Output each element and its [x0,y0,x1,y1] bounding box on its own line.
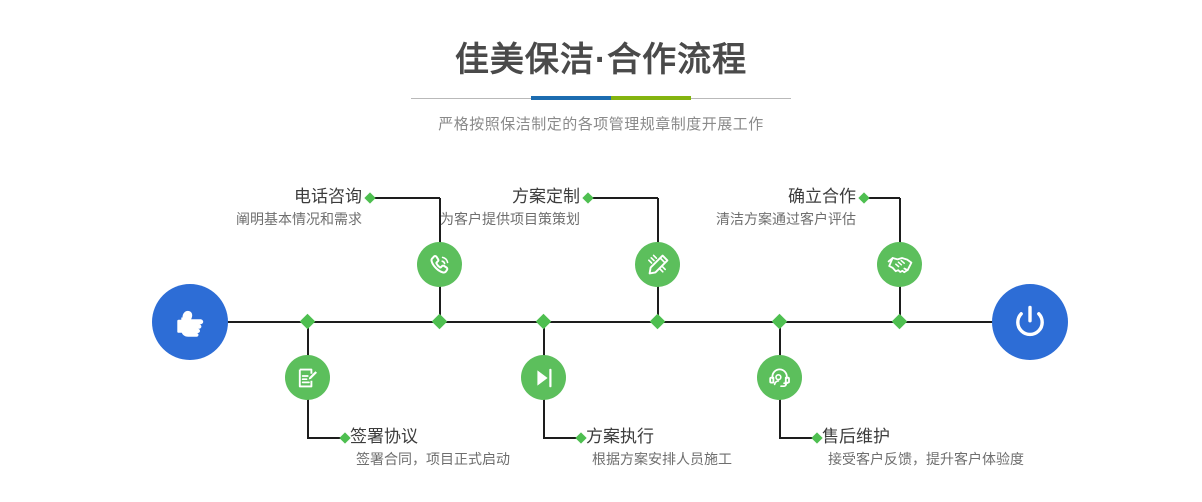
handshake-icon [886,251,914,279]
step-2-icon-badge[interactable] [285,355,330,400]
step-2-label: 签署协议 签署合同，项目正式启动 [350,426,610,469]
pencil-ruler-icon [645,252,671,278]
timeline-end-node[interactable] [992,284,1068,360]
step-5-label-marker [858,192,869,203]
step-2-axis-marker [300,314,316,330]
step-3-desc: 为客户提供项目策策划 [340,209,580,229]
step-5-desc: 清洁方案通过客户评估 [616,209,856,229]
step-6-title: 售后维护 [822,426,1122,447]
step-6-icon-badge[interactable] [757,355,802,400]
step-1-icon-badge[interactable] [417,242,462,287]
process-timeline: 电话咨询 阐明基本情况和需求 签署协议 签署合同， [0,0,1202,502]
step-4-axis-marker [536,314,552,330]
step-5-label: 确立合作 清洁方案通过客户评估 [616,186,856,229]
play-skip-icon [531,365,557,391]
step-4-icon-badge[interactable] [521,355,566,400]
flow-diagram-page: 佳美保洁·合作流程 严格按照保洁制定的各项管理规章制度开展工作 [0,0,1202,502]
phone-call-icon [427,252,453,278]
step-2-label-marker [339,432,350,443]
step-3-label-marker [582,192,593,203]
document-edit-icon [295,365,321,391]
step-5-connector-horizontal [866,197,900,199]
step-6-desc: 接受客户反馈，提升客户体验度 [822,449,1122,469]
step-6-connector-horizontal [779,437,815,439]
step-4-desc: 根据方案安排人员施工 [586,449,846,469]
step-5-axis-marker [892,314,908,330]
step-1-axis-marker [432,314,448,330]
step-2-connector-horizontal [307,437,343,439]
timeline-start-node[interactable] [152,284,228,360]
step-6-axis-marker [772,314,788,330]
step-4-connector-horizontal [543,437,579,439]
power-icon [1007,299,1053,345]
step-5-icon-badge[interactable] [877,242,922,287]
step-5-title: 确立合作 [616,186,856,207]
step-1-title: 电话咨询 [120,186,362,207]
step-4-label: 方案执行 根据方案安排人员施工 [586,426,846,469]
headset-support-icon [767,365,793,391]
step-3-title: 方案定制 [340,186,580,207]
step-1-label: 电话咨询 阐明基本情况和需求 [120,186,362,229]
step-3-label: 方案定制 为客户提供项目策策划 [340,186,580,229]
step-6-label: 售后维护 接受客户反馈，提升客户体验度 [822,426,1122,469]
step-2-desc: 签署合同，项目正式启动 [350,449,610,469]
step-1-desc: 阐明基本情况和需求 [120,209,362,229]
step-3-icon-badge[interactable] [635,242,680,287]
step-3-axis-marker [650,314,666,330]
pointing-hand-icon [168,300,212,344]
